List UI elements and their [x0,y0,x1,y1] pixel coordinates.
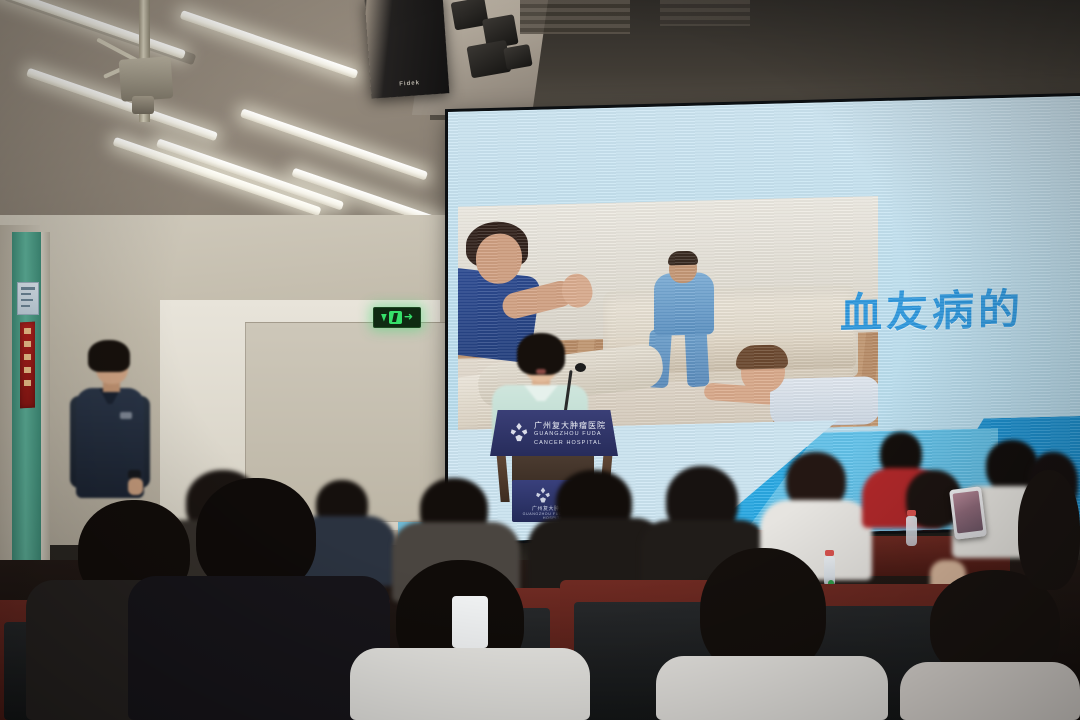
ceiling-speaker: Fidek [365,0,450,99]
water-bottle [906,516,917,546]
wall-notice-sign [17,282,39,315]
column-edge [41,232,50,582]
phone-screen [953,491,984,534]
podium-name-en-line2: CANCER HOSPITAL [534,440,602,446]
lecture-hall-photo: Fidek ➜ [0,0,1080,720]
projector-lens-icon [132,96,154,114]
smartphone[interactable] [949,486,987,540]
exit-arrow-icon: ➜ [404,312,413,323]
hospital-logo-icon-secondary [534,486,552,504]
ceiling-vent-secondary-icon [660,0,750,26]
stage-light-truss [440,0,547,97]
exit-sign-tick-icon [381,314,387,322]
speaker-brand-label: Fidek [379,79,441,89]
red-vertical-banner [20,322,35,409]
bottle-cap [825,550,834,556]
podium-name-cn: 广州复大肿瘤医院 [534,420,606,431]
microphone-icon [575,363,586,372]
exit-sign: ➜ [373,307,421,328]
projector-icon [119,56,174,102]
hospital-logo-icon [508,421,530,443]
face-mask [452,596,488,648]
podium-name-en-line1: GUANGZHOU FUDA [534,431,602,437]
bottle-cap [907,510,916,516]
running-man-icon [389,311,402,324]
